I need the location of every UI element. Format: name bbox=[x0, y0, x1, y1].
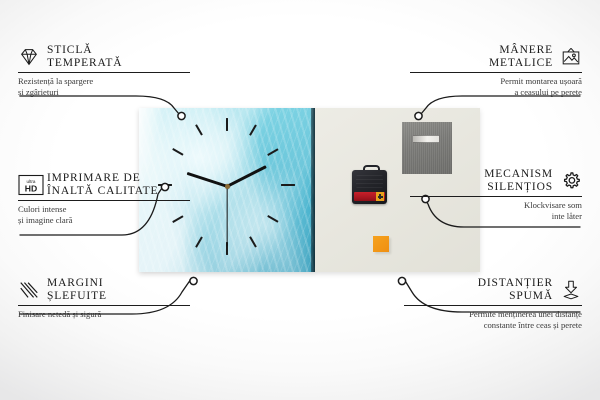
clock-tick bbox=[281, 184, 295, 186]
gear-icon bbox=[560, 170, 582, 192]
quartz-clock-mechanism bbox=[352, 170, 387, 204]
battery-plus-terminal bbox=[376, 192, 384, 201]
callout-title: MARGINI ȘLEFUITE bbox=[47, 277, 107, 302]
mechanism-body bbox=[352, 170, 387, 204]
callout-imprimare-calitate[interactable]: ultra HD IMPRIMARE DE ÎNALTĂ CALITATE Cu… bbox=[18, 172, 190, 225]
callout-title: DISTANȚIER SPUMĂ bbox=[478, 277, 553, 302]
clock-hand-cap bbox=[225, 184, 230, 189]
callout-rule bbox=[410, 72, 582, 73]
callout-sticla-temperata[interactable]: STICLĂ TEMPERATĂ Rezistență la spargere … bbox=[18, 44, 190, 97]
leader-endpoint-margini bbox=[190, 277, 197, 284]
down-arrow-stack-icon bbox=[560, 279, 582, 301]
ultra-hd-icon: ultra HD bbox=[18, 174, 40, 196]
callout-header: MECANISM SILENȚIOS bbox=[410, 168, 582, 193]
callout-title: MÂNERE METALICE bbox=[489, 44, 553, 69]
callout-margini-slefuite[interactable]: MARGINI ȘLEFUITE Finisare netedă și sigu… bbox=[18, 277, 190, 320]
callout-rule bbox=[18, 305, 190, 306]
clock-tick bbox=[226, 118, 228, 131]
callout-title: STICLĂ TEMPERATĂ bbox=[47, 44, 122, 69]
callout-mecanism-silentios[interactable]: MECANISM SILENȚIOS Klockvisare som inte … bbox=[410, 168, 582, 221]
diagonal-lines-icon bbox=[18, 279, 40, 301]
callout-header: ultra HD IMPRIMARE DE ÎNALTĂ CALITATE bbox=[18, 172, 190, 197]
callout-subtitle: Finisare netedă și sigură bbox=[18, 309, 190, 319]
callout-subtitle: Permite menținerea unei distanțe constan… bbox=[404, 309, 582, 330]
callout-rule bbox=[410, 196, 582, 197]
clock-second-hand bbox=[226, 186, 227, 246]
callout-header: MÂNERE METALICE bbox=[410, 44, 582, 69]
callout-header: STICLĂ TEMPERATĂ bbox=[18, 44, 190, 69]
callout-subtitle: Klockvisare som inte låter bbox=[410, 200, 582, 221]
foam-spacer bbox=[373, 236, 389, 252]
hd-label: HD bbox=[25, 183, 37, 193]
callout-header: MARGINI ȘLEFUITE bbox=[18, 277, 190, 302]
metal-hanger-plate bbox=[402, 122, 452, 174]
hanger-slot bbox=[412, 135, 440, 143]
infographic-canvas: STICLĂ TEMPERATĂ Rezistență la spargere … bbox=[0, 0, 600, 400]
callout-title: MECANISM SILENȚIOS bbox=[484, 168, 553, 193]
callout-distantier-spuma[interactable]: DISTANȚIER SPUMĂ Permite menținerea unei… bbox=[404, 277, 582, 330]
picture-frame-icon bbox=[560, 46, 582, 68]
callout-rule bbox=[18, 200, 190, 201]
callout-rule bbox=[404, 305, 582, 306]
callout-title: IMPRIMARE DE ÎNALTĂ CALITATE bbox=[47, 172, 158, 197]
callout-header: DISTANȚIER SPUMĂ bbox=[404, 277, 582, 302]
callout-subtitle: Permit montarea ușoară a ceasului pe per… bbox=[410, 76, 582, 97]
diamond-icon bbox=[18, 46, 40, 68]
callout-manere-metalice[interactable]: MÂNERE METALICE Permit montarea ușoară a… bbox=[410, 44, 582, 97]
callout-subtitle: Culori intense și imagine clară bbox=[18, 204, 190, 225]
callout-rule bbox=[18, 72, 190, 73]
callout-subtitle: Rezistență la spargere și zgârieturi bbox=[18, 76, 190, 97]
battery bbox=[354, 192, 385, 201]
